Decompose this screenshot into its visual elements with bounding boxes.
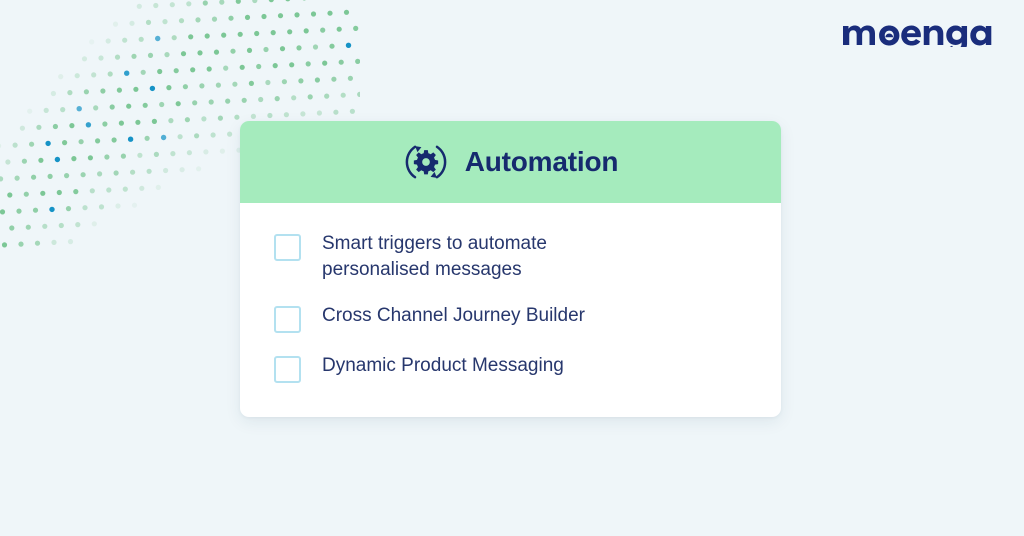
automation-feature-card: Automation Smart triggers to automate pe… <box>240 121 781 417</box>
card-title: Automation <box>465 146 619 178</box>
feature-label: Cross Channel Journey Builder <box>322 303 585 329</box>
list-item[interactable]: Cross Channel Journey Builder <box>240 303 781 333</box>
checkbox-unchecked-icon[interactable] <box>274 234 301 261</box>
moengage-logo <box>842 17 992 47</box>
list-item[interactable]: Dynamic Product Messaging <box>240 353 781 383</box>
checkbox-unchecked-icon[interactable] <box>274 356 301 383</box>
card-body: Smart triggers to automate personalised … <box>240 203 781 417</box>
card-header: Automation <box>240 121 781 203</box>
list-item[interactable]: Smart triggers to automate personalised … <box>240 231 781 283</box>
moengage-wordmark-icon <box>842 17 992 47</box>
feature-label: Dynamic Product Messaging <box>322 353 564 379</box>
feature-list: Smart triggers to automate personalised … <box>240 231 781 383</box>
checkbox-unchecked-icon[interactable] <box>274 306 301 333</box>
automation-gear-cycle-icon <box>403 139 449 185</box>
feature-label: Smart triggers to automate personalised … <box>322 231 652 283</box>
